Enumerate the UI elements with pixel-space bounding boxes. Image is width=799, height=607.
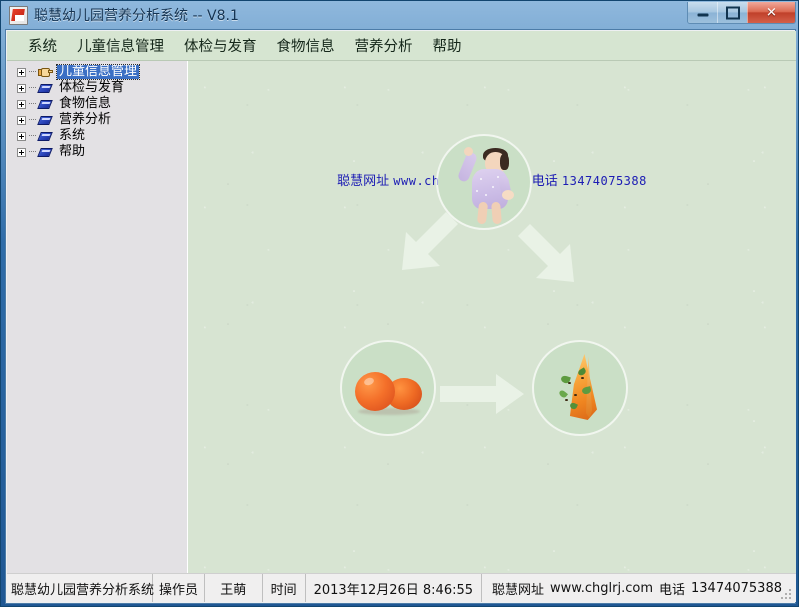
tree-connector	[29, 71, 36, 73]
menu-bar: 系统 儿童信息管理 体检与发育 食物信息 营养分析 帮助	[7, 31, 796, 61]
sidebar-item-nutrition[interactable]: 营养分析	[7, 112, 187, 128]
tree-connector	[29, 135, 36, 137]
tree-connector	[29, 103, 36, 105]
minimize-button[interactable]	[688, 2, 717, 23]
sidebar-item-children-info[interactable]: 儿童信息管理	[7, 64, 187, 80]
status-phone-label: 电话	[659, 579, 685, 598]
expand-icon[interactable]	[17, 84, 26, 93]
window-client-area: 系统 儿童信息管理 体检与发育 食物信息 营养分析 帮助 儿童信息管理	[5, 29, 796, 604]
sidebar-item-system[interactable]: 系统	[7, 128, 187, 144]
status-web-url: www.chglrj.com	[550, 581, 653, 596]
sidebar-item-label: 帮助	[57, 145, 87, 159]
status-operator-label: 操作员	[153, 574, 205, 602]
arrow-child-to-fruit	[402, 212, 458, 270]
book-icon	[38, 114, 53, 127]
menu-item-children[interactable]: 儿童信息管理	[68, 32, 173, 59]
sidebar-item-label: 食物信息	[57, 97, 113, 111]
main-body: 儿童信息管理 体检与发育	[7, 61, 796, 574]
book-icon	[38, 146, 53, 159]
application-window: 聪慧幼儿园营养分析系统 -- V8.1 ✕ 系统 儿童信息管理 体检与发育 食物…	[0, 0, 799, 607]
window-controls: ✕	[687, 2, 796, 24]
book-icon	[38, 98, 53, 111]
navigation-tree[interactable]: 儿童信息管理 体检与发育	[7, 61, 188, 574]
nutrition-cycle-diagram	[318, 136, 658, 496]
menu-item-system[interactable]: 系统	[19, 32, 66, 59]
status-app-name: 聪慧幼儿园营养分析系统	[7, 574, 153, 602]
sidebar-item-label: 营养分析	[57, 113, 113, 127]
close-icon: ✕	[766, 6, 777, 19]
sidebar-item-help[interactable]: 帮助	[7, 144, 187, 160]
expand-icon[interactable]	[17, 132, 26, 141]
tree-connector	[29, 87, 36, 89]
window-title: 聪慧幼儿园营养分析系统 -- V8.1	[34, 5, 239, 25]
expand-icon[interactable]	[17, 116, 26, 125]
title-bar[interactable]: 聪慧幼儿园营养分析系统 -- V8.1 ✕	[1, 1, 799, 29]
menu-item-help[interactable]: 帮助	[424, 32, 471, 59]
child-photo	[438, 136, 530, 228]
maximize-icon	[726, 6, 740, 19]
status-phone-number: 13474075388	[691, 581, 782, 596]
status-operator-value: 王萌	[205, 574, 263, 602]
status-web-label: 聪慧网址	[492, 579, 544, 598]
expand-icon[interactable]	[17, 100, 26, 109]
sidebar-item-checkup[interactable]: 体检与发育	[7, 80, 187, 96]
sidebar-item-label: 体检与发育	[57, 81, 126, 95]
status-bar: 聪慧幼儿园营养分析系统 操作员 王萌 时间 2013年12月26日 8:46:5…	[7, 573, 796, 602]
close-button[interactable]: ✕	[747, 2, 795, 23]
menu-item-food[interactable]: 食物信息	[268, 32, 344, 59]
meal-photo	[534, 342, 626, 434]
sidebar-item-food[interactable]: 食物信息	[7, 96, 187, 112]
expand-icon[interactable]	[17, 148, 26, 157]
fruit-photo	[342, 342, 434, 434]
tree-connector	[29, 151, 36, 153]
tree-connector	[29, 119, 36, 121]
content-panel: 聪慧网址 www.chglrj.com 电话 13474075388	[188, 61, 796, 574]
expand-icon[interactable]	[17, 68, 26, 77]
menu-item-nutrition[interactable]: 营养分析	[346, 32, 422, 59]
status-time-label: 时间	[263, 574, 306, 602]
maximize-button[interactable]	[717, 2, 747, 23]
sidebar-item-label: 儿童信息管理	[57, 65, 139, 79]
status-time-value: 2013年12月26日 8:46:55	[306, 574, 482, 602]
menu-item-checkup[interactable]: 体检与发育	[175, 32, 266, 59]
app-icon	[9, 6, 28, 25]
sidebar-item-label: 系统	[57, 129, 87, 143]
status-contact: 聪慧网址 www.chglrj.com 电话 13474075388	[482, 574, 796, 602]
minimize-icon	[697, 14, 708, 17]
book-icon	[38, 82, 53, 95]
arrow-meal-to-child	[518, 224, 574, 282]
book-icon	[38, 130, 53, 143]
pointing-hand-icon	[38, 66, 53, 79]
arrow-fruit-to-meal	[440, 374, 524, 414]
